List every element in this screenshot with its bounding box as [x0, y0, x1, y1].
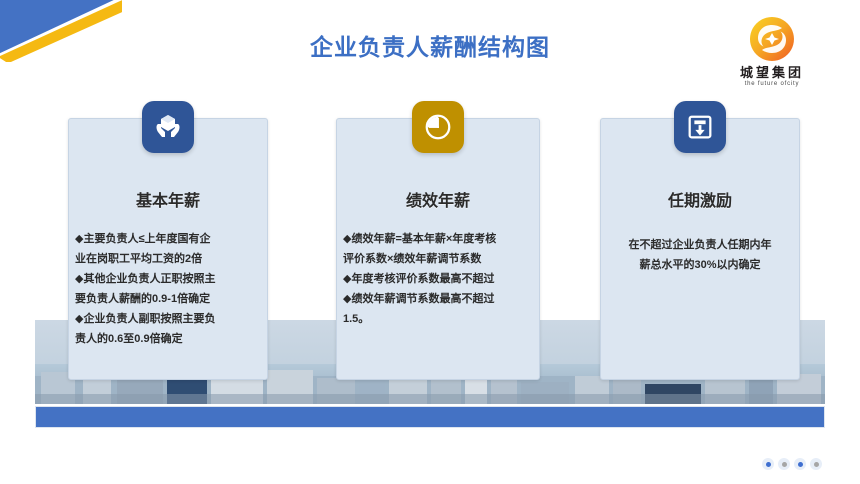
card-line: 评价系数×绩效年薪调节系数 — [343, 249, 537, 269]
pagination-dot-3[interactable] — [794, 458, 806, 470]
card-tenure-incentive[interactable]: 任期激励 在不超过企业负责人任期内年 薪总水平的30%以内确定 — [600, 118, 800, 380]
clock-pie-icon — [412, 101, 464, 153]
pagination-dot-2[interactable] — [778, 458, 790, 470]
card-line: 1.5。 — [343, 309, 537, 329]
card-body: ◆绩效年薪=基本年薪×年度考核 评价系数×绩效年薪调节系数 ◆年度考核评价系数最… — [343, 229, 537, 329]
logo-tagline: the future ofcity — [722, 81, 822, 87]
save-box-icon — [674, 101, 726, 153]
slide-canvas: 企业负责人薪酬结构图 城望集团 the future ofcity — [0, 0, 860, 484]
footer-blue-bar — [35, 406, 825, 428]
card-body: 在不超过企业负责人任期内年 薪总水平的30%以内确定 — [605, 235, 795, 275]
card-line: ◆其他企业负责人正职按照主 — [75, 269, 265, 289]
card-title: 基本年薪 — [69, 187, 267, 211]
card-title: 绩效年薪 — [337, 187, 539, 211]
logo-name: 城望集团 — [722, 66, 822, 80]
card-line: 要负责人薪酬的0.9-1倍确定 — [75, 289, 265, 309]
swirl-circle-icon — [747, 14, 797, 64]
card-basic-salary[interactable]: 基本年薪 ◆主要负责人≤上年度国有企 业在岗职工平均工资的2倍 ◆其他企业负责人… — [68, 118, 268, 380]
pagination-dot-1[interactable] — [762, 458, 774, 470]
card-line: ◆绩效年薪调节系数最高不超过 — [343, 289, 537, 309]
pagination-dots[interactable] — [762, 458, 822, 470]
card-line: 薪总水平的30%以内确定 — [605, 255, 795, 275]
card-line: 责人的0.6至0.9倍确定 — [75, 329, 265, 349]
card-body: ◆主要负责人≤上年度国有企 业在岗职工平均工资的2倍 ◆其他企业负责人正职按照主… — [75, 229, 265, 349]
card-line: ◆主要负责人≤上年度国有企 — [75, 229, 265, 249]
card-title: 任期激励 — [601, 187, 799, 211]
card-line: ◆绩效年薪=基本年薪×年度考核 — [343, 229, 537, 249]
card-performance-salary[interactable]: 绩效年薪 ◆绩效年薪=基本年薪×年度考核 评价系数×绩效年薪调节系数 ◆年度考核… — [336, 118, 540, 380]
card-line: ◆企业负责人副职按照主要负 — [75, 309, 265, 329]
hands-holding-cube-icon — [142, 101, 194, 153]
card-line: ◆年度考核评价系数最高不超过 — [343, 269, 537, 289]
card-line: 业在岗职工平均工资的2倍 — [75, 249, 265, 269]
card-line: 在不超过企业负责人任期内年 — [605, 235, 795, 255]
brand-logo: 城望集团 the future ofcity — [722, 14, 822, 87]
pagination-dot-4[interactable] — [810, 458, 822, 470]
